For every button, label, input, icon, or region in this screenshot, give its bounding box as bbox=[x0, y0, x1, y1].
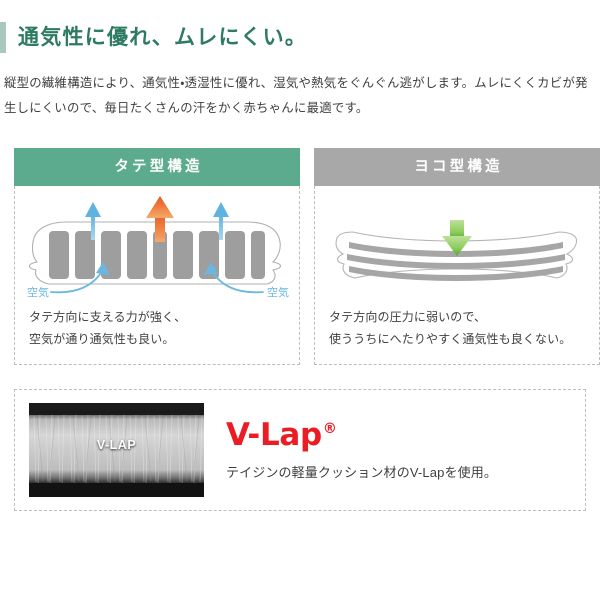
horizontal-caption-line-1: タテ方向の圧力に弱いので、 bbox=[329, 306, 599, 328]
vlap-brand-name: V-Lap® bbox=[226, 419, 571, 452]
air-label-left: 空気 bbox=[27, 285, 49, 299]
horizontal-structure-body: タテ方向の圧力に弱いので、 使ううちにへたりやすく通気性も良くない。 bbox=[314, 186, 600, 365]
air-label-right: 空気 bbox=[267, 285, 289, 299]
vertical-structure-body: 空気 空気 タテ方向に支える力が強く、 空気が通り通気性も良い。 bbox=[14, 186, 300, 365]
vertical-structure-diagram: 空気 空気 bbox=[15, 186, 299, 304]
vertical-structure-header: タテ型構造 bbox=[14, 148, 300, 186]
vlap-info: V-Lap® テイジンの軽量クッション材のV-Lapを使用。 bbox=[226, 417, 571, 484]
lead-paragraph: 縦型の繊維構造により、通気性・透湿性に優れ、湿気や熱気をぐんぐん逃がします。ムレ… bbox=[4, 71, 596, 122]
vlap-photo-label: V-LAP bbox=[29, 438, 204, 452]
product-feature-page: 通気性に優れ、ムレにくい。 縦型の繊維構造により、通気性・透湿性に優れ、湿気や熱… bbox=[0, 22, 600, 610]
vlap-description: テイジンの軽量クッション材のV-Lapを使用。 bbox=[226, 463, 571, 484]
vertical-structure-caption: タテ方向に支える力が強く、 空気が通り通気性も良い。 bbox=[15, 304, 299, 364]
comparison-column-vertical: タテ型構造 bbox=[14, 148, 300, 365]
heading-accent-bar bbox=[0, 22, 6, 53]
vlap-fiber-photo: V-LAP bbox=[29, 403, 204, 497]
vertical-caption-line-1: タテ方向に支える力が強く、 bbox=[29, 306, 299, 328]
horizontal-structure-caption: タテ方向の圧力に弱いので、 使ううちにへたりやすく通気性も良くない。 bbox=[315, 304, 599, 364]
vertical-caption-line-2: 空気が通り通気性も良い。 bbox=[29, 328, 299, 350]
comparison-section: タテ型構造 bbox=[14, 148, 586, 365]
vlap-panel: V-LAP V-Lap® テイジンの軽量クッション材のV-Lapを使用。 bbox=[14, 389, 586, 511]
heading-label: 通気性に優れ、ムレにくい。 bbox=[18, 27, 307, 48]
horizontal-structure-header: ヨコ型構造 bbox=[314, 148, 600, 186]
comparison-column-horizontal: ヨコ型構造 bbox=[314, 148, 600, 365]
vlap-brand-text: V-Lap bbox=[226, 417, 322, 453]
horizontal-structure-diagram bbox=[315, 186, 599, 304]
page-title: 通気性に優れ、ムレにくい。 bbox=[0, 22, 600, 53]
horizontal-caption-line-2: 使ううちにへたりやすく通気性も良くない。 bbox=[329, 328, 599, 350]
registered-trademark-icon: ® bbox=[323, 421, 337, 437]
